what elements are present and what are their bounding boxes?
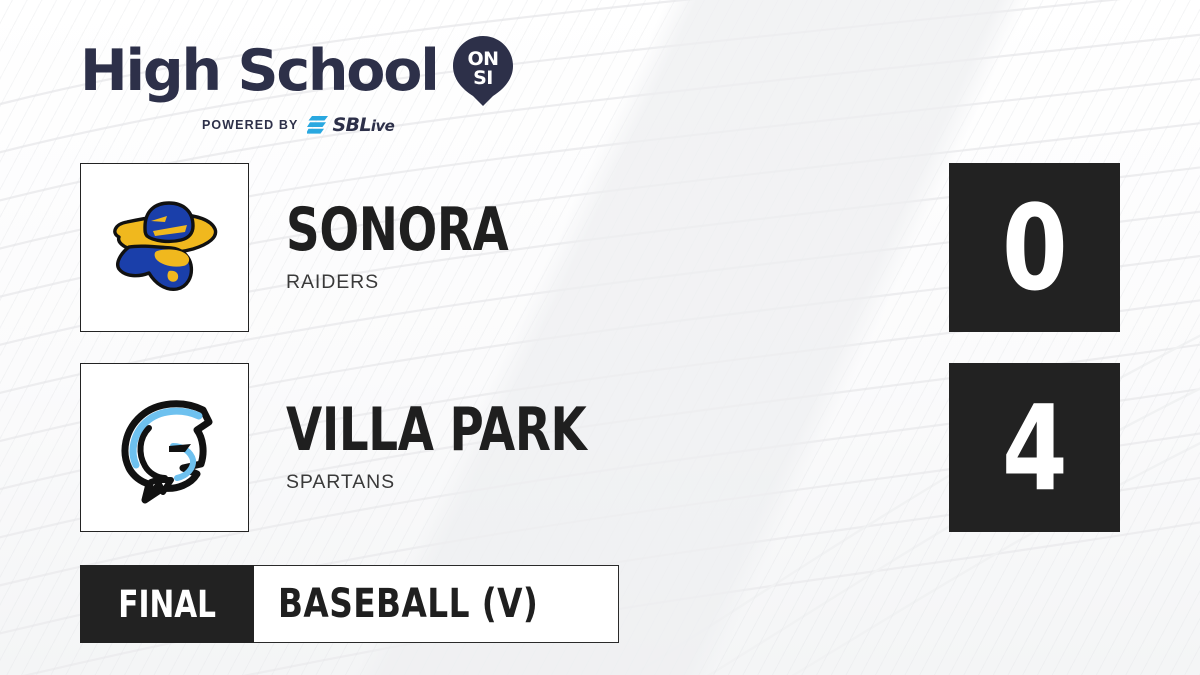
sblive-wordmark: SBLive: [332, 116, 394, 135]
sblive-wordmark-suffix: ive: [371, 117, 394, 135]
game-status-bar: FINAL BASEBALL (V): [80, 565, 619, 643]
scoreboard-graphic: High School ON SI POWERED BY: [0, 0, 1200, 675]
game-state-badge: FINAL: [80, 565, 254, 643]
powered-by-row: POWERED BY SBLive: [202, 115, 550, 135]
team-name: VILLA PARK: [286, 401, 586, 460]
sport-label: BASEBALL (V): [278, 584, 538, 624]
brand-header: High School ON SI POWERED BY: [80, 34, 550, 138]
team-logo-box: [80, 163, 249, 332]
on-si-pin-line2: SI: [473, 67, 493, 89]
game-state-label: FINAL: [118, 586, 216, 623]
on-si-pin-icon: ON SI: [452, 34, 514, 108]
brand-logo-row: High School ON SI: [80, 34, 550, 108]
team-mascot: RAIDERS: [286, 271, 571, 294]
sonora-raiders-logo: [105, 193, 225, 303]
villa-park-spartans-logo: [105, 388, 225, 508]
team-logo-box: [80, 363, 249, 532]
team-name: SONORA: [286, 201, 508, 260]
powered-by-label: POWERED BY: [202, 118, 298, 132]
team-text-block: SONORA RAIDERS: [286, 163, 571, 332]
brand-wordmark: High School: [80, 43, 438, 100]
team-score: 4: [1002, 389, 1066, 507]
sblive-s-mark-icon: [307, 115, 329, 135]
team-score: 0: [1002, 189, 1066, 307]
team-score-box: 4: [949, 363, 1120, 532]
team-text-block: VILLA PARK SPARTANS: [286, 363, 671, 532]
sblive-wordmark-main: SBL: [332, 114, 370, 136]
team-mascot: SPARTANS: [286, 471, 671, 494]
team-row: SONORA RAIDERS 0: [0, 163, 1200, 335]
sport-label-box: BASEBALL (V): [254, 565, 618, 643]
team-row: VILLA PARK SPARTANS 4: [0, 363, 1200, 535]
sblive-lockup: SBLive: [307, 115, 394, 135]
team-score-box: 0: [949, 163, 1120, 332]
